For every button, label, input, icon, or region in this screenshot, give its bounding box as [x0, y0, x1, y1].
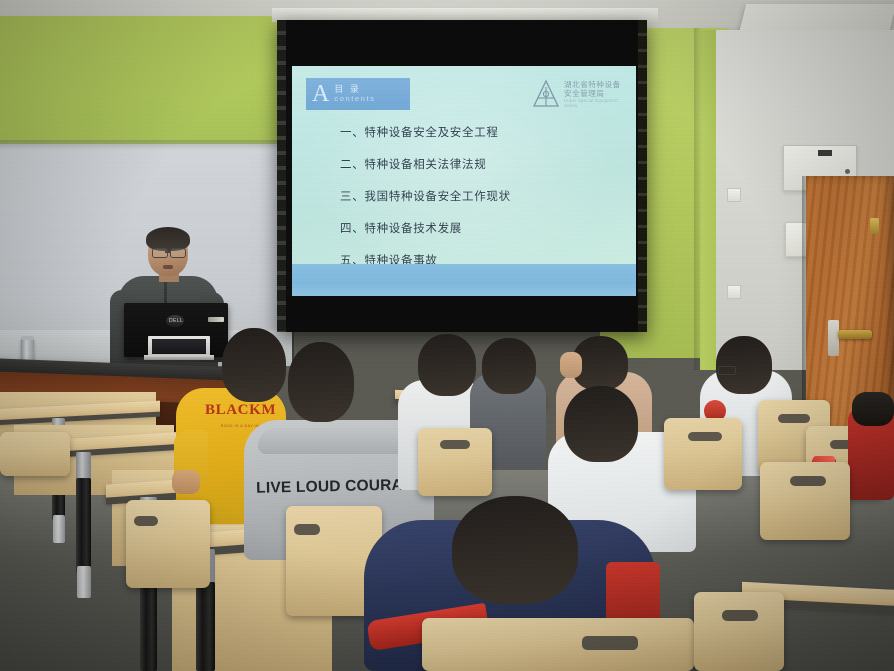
student-hand [172, 470, 200, 494]
laptop-base [144, 355, 214, 360]
slide-line-2: 二、特种设备相关法律法规 [340, 156, 622, 172]
light-switch[interactable] [727, 188, 741, 202]
presenter-mouth [163, 265, 173, 269]
student-hand-tan [560, 352, 582, 378]
desk-leg [76, 478, 91, 573]
chair-back[interactable] [126, 500, 210, 588]
chair-back-front[interactable] [422, 618, 694, 671]
chair-handle-slot [688, 432, 722, 441]
logo-chinese-text: 湖北省特种设备安全管理局 [564, 80, 628, 99]
wall-left-green-band [0, 16, 292, 146]
hoodie-collar [258, 428, 420, 454]
chair-handle-slot [778, 414, 810, 423]
shirt-text-blackm: BLACKM [205, 402, 281, 418]
glasses-icon [170, 248, 186, 258]
wall-shadow [0, 140, 292, 150]
thermos-cap [21, 336, 34, 340]
monitor-badge [208, 317, 224, 322]
chair-handle-slot [134, 516, 158, 526]
slide-line-3: 三、我国特种设备安全工作现状 [340, 188, 622, 204]
presentation-slide: A 目 录 contents 湖北省特种设备安全管理局 Hubei Specia… [292, 66, 636, 296]
slide-contents-list: 一、特种设备安全及安全工程 二、特种设备相关法律法规 三、我国特种设备安全工作现… [340, 124, 622, 284]
student-head-white-shirt [564, 386, 638, 462]
door-lockplate [828, 320, 839, 356]
slide-line-1: 一、特种设备安全及安全工程 [340, 124, 622, 140]
chair-handle-slot [722, 610, 758, 621]
logo-english-text: Hubei Special Equipment Safety [564, 98, 628, 108]
chair-handle-slot [294, 524, 320, 535]
slide-contents-badge: A 目 录 contents [306, 78, 410, 110]
screen-bottom-border [277, 296, 647, 332]
chair-back[interactable] [760, 462, 850, 540]
student-head-yellow [222, 328, 286, 402]
glasses-icon [152, 248, 168, 258]
monitor-brand-label: DELL [169, 318, 181, 324]
dark-bag [852, 392, 894, 426]
light-switch[interactable] [727, 285, 741, 299]
slide-line-4: 四、特种设备技术发展 [340, 220, 622, 236]
chair-handle-slot [582, 636, 638, 650]
screen-top-border [277, 20, 647, 68]
student-head-dark [482, 338, 536, 394]
desk-leg [196, 582, 215, 671]
student-head-navy-jacket [452, 496, 578, 604]
organization-logo: 湖北省特种设备安全管理局 Hubei Special Equipment Saf… [532, 76, 628, 112]
panel-knob-icon [845, 169, 850, 174]
chair-back[interactable] [0, 432, 70, 476]
chair-back[interactable] [664, 418, 742, 490]
door-hinge-icon [870, 218, 879, 234]
door-handle[interactable] [838, 330, 872, 339]
student-head-gray-hoodie [288, 342, 354, 422]
chair-back[interactable] [694, 592, 784, 671]
glasses-icon [718, 366, 736, 375]
chair-back[interactable] [418, 428, 492, 496]
badge-english-label: contents [334, 95, 375, 103]
triangle-emblem-icon [532, 79, 560, 109]
chair-handle-slot [790, 476, 826, 486]
slide-footer-band [292, 264, 636, 296]
wall-corner [694, 28, 702, 370]
glasses-bridge-icon [165, 251, 171, 253]
desk-foot [77, 566, 91, 598]
badge-letter: A [312, 82, 329, 106]
screen-rail-left [277, 20, 286, 332]
desk-foot [53, 515, 65, 543]
student-head-white [418, 334, 476, 396]
laptop-screen [152, 339, 206, 354]
panel-label [818, 150, 832, 156]
chair-handle-slot [440, 440, 470, 449]
student-head-white-hoodie [716, 336, 772, 394]
screen-rail-right [638, 20, 647, 332]
classroom-photo: A 目 录 contents 湖北省特种设备安全管理局 Hubei Specia… [0, 0, 894, 671]
